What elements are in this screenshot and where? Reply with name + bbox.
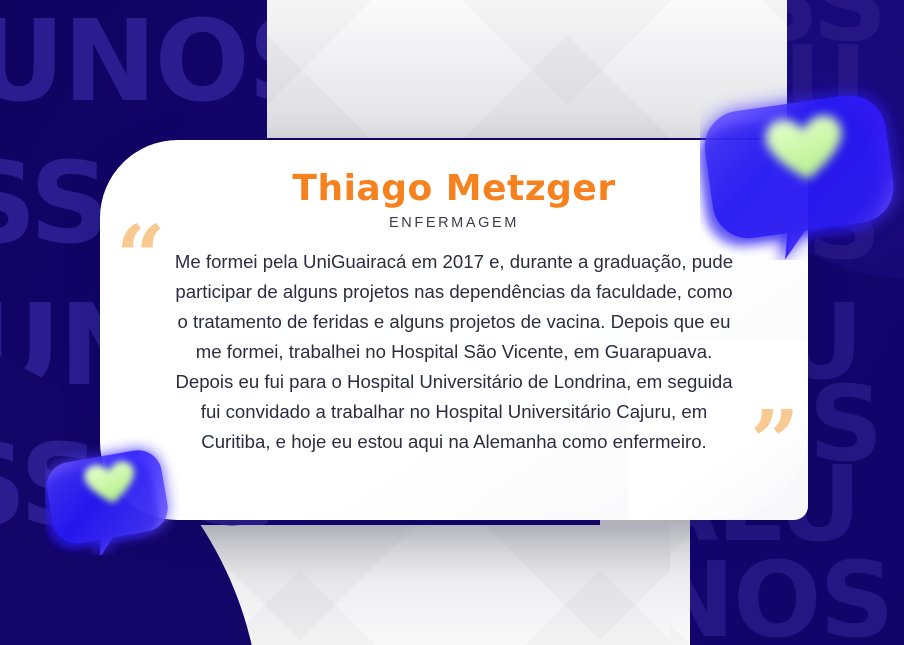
wordmark-row: NOS bbox=[668, 548, 892, 645]
quote-text: Me formei pela UniGuairacá em 2017 e, du… bbox=[144, 247, 764, 457]
testimonial-card-page: UNOS SSOS UNOS SSOS OSS ALU OSS ALU OSS … bbox=[0, 0, 904, 645]
quote-line: fui convidado a trabalhar no Hospital Un… bbox=[144, 397, 764, 427]
wordmark-row: UNOS bbox=[0, 6, 268, 118]
quote-close-icon: ” bbox=[750, 400, 799, 486]
quote-line: Depois eu fui para o Hospital Universitá… bbox=[144, 367, 764, 397]
heart-speech-bubble-icon bbox=[45, 435, 180, 555]
heart-speech-bubble-icon bbox=[700, 70, 904, 260]
quote-line: Me formei pela UniGuairacá em 2017 e, du… bbox=[144, 247, 764, 277]
page-title: Thiago Metzger bbox=[144, 168, 764, 209]
quote-line: Curitiba, e hoje eu estou aqui na Aleman… bbox=[144, 427, 764, 457]
quote-open-icon: “ bbox=[116, 215, 165, 301]
quote-line: me formei, trabalhei no Hospital São Vic… bbox=[144, 337, 764, 367]
quote-line: participar de alguns projetos nas depend… bbox=[144, 277, 764, 307]
person-role-label: ENFERMAGEM bbox=[144, 215, 764, 231]
quote-line: o tratamento de feridas e alguns projeto… bbox=[144, 307, 764, 337]
